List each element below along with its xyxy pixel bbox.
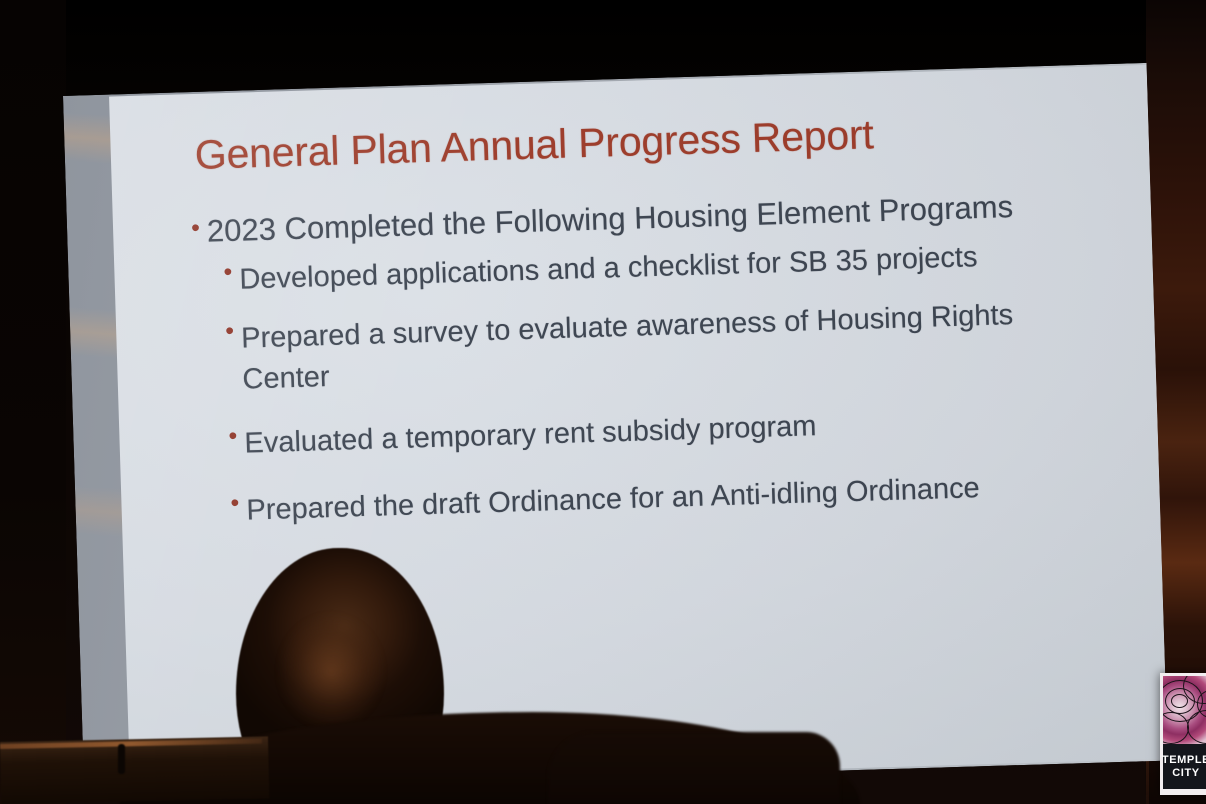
bullet-item-level2: • Prepared the draft Ordinance for an An… bbox=[230, 463, 1130, 532]
bullet-text: Developed applications and a checklist f… bbox=[239, 237, 978, 301]
bullet-dot-icon: • bbox=[228, 423, 238, 448]
slide-title: General Plan Annual Progress Report bbox=[194, 111, 874, 179]
chair-back-silhouette bbox=[548, 732, 840, 804]
bullet-dot-icon: • bbox=[230, 490, 240, 515]
bullet-dot-icon: • bbox=[223, 260, 233, 285]
screenshot-root: General Plan Annual Progress Report • 20… bbox=[0, 0, 1206, 804]
slide-bullet-list: • 2023 Completed the Following Housing E… bbox=[191, 188, 1130, 533]
bullet-dot-icon: • bbox=[225, 319, 235, 344]
sign-line-1: TEMPLE bbox=[1162, 755, 1206, 766]
camellia-rose-icon bbox=[1163, 676, 1206, 744]
temple-city-sign-band: TEMPLE CITY bbox=[1163, 744, 1206, 789]
bullet-item-level2: • Evaluated a temporary rent subsidy pro… bbox=[228, 396, 1128, 465]
projection-screen: General Plan Annual Progress Report • 20… bbox=[63, 63, 1168, 794]
bullet-text: 2023 Completed the Following Housing Ele… bbox=[206, 191, 1013, 247]
microphone-stand bbox=[118, 744, 125, 774]
bullet-text: Evaluated a temporary rent subsidy progr… bbox=[244, 406, 817, 465]
bullet-dot-icon: • bbox=[191, 216, 201, 241]
left-wall bbox=[0, 0, 66, 804]
sign-line-2: CITY bbox=[1172, 768, 1199, 779]
temple-city-sign: TEMPLE CITY bbox=[1160, 673, 1206, 795]
bullet-text: Prepared the draft Ordinance for an Anti… bbox=[246, 468, 980, 532]
bullet-text: Prepared a survey to evaluate awareness … bbox=[241, 293, 1083, 401]
bullet-item-level2: • Prepared a survey to evaluate awarenes… bbox=[225, 292, 1126, 402]
